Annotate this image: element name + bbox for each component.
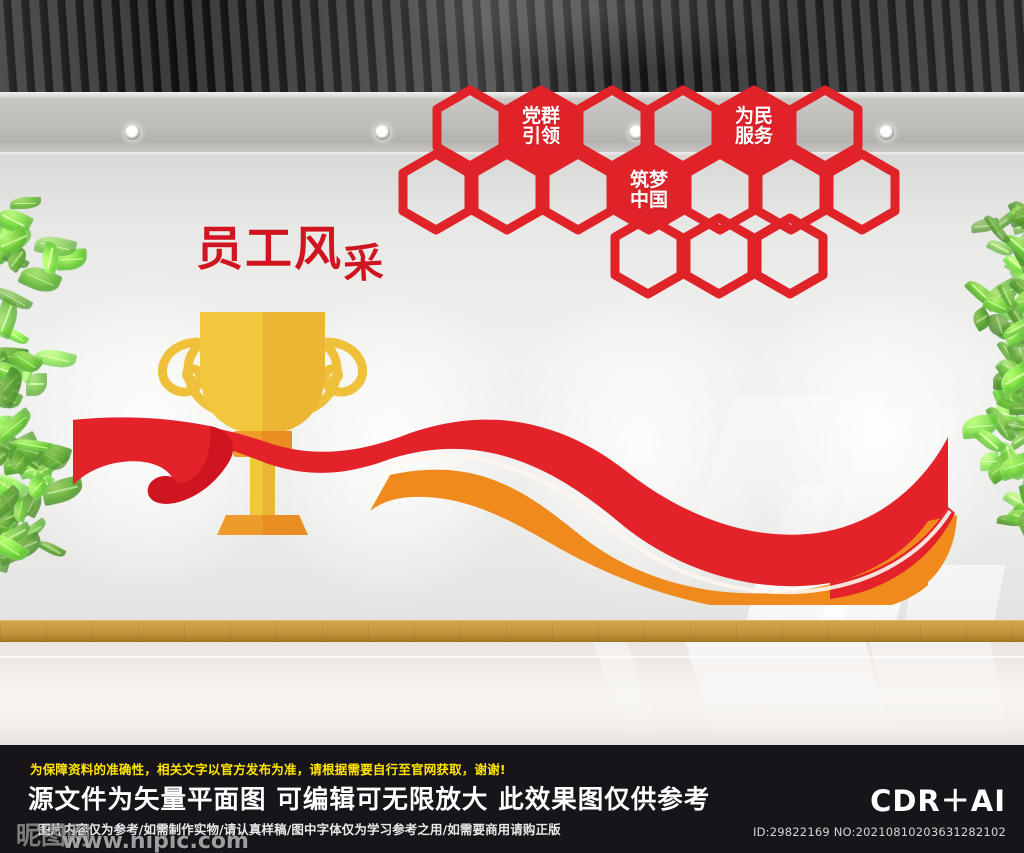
marble-floor (0, 642, 1024, 745)
hexagon-cell-empty[interactable] (403, 154, 469, 230)
hexagon-cell-filled[interactable] (721, 90, 787, 166)
footer-bar: 为保障资料的准确性，相关文字以官方发布为准，请根据需要自行至官网获取，谢谢! 源… (0, 745, 1024, 853)
hexagon-cell-empty[interactable] (829, 154, 895, 230)
floor-reflection (593, 642, 661, 742)
hexagon-cell-empty[interactable] (437, 90, 503, 166)
hexagon-cell-empty[interactable] (792, 90, 858, 166)
footer-id-text: ID:29822169 NO:20210810203631282102 (753, 825, 1006, 839)
footer-terms-text: 图片内容仅为参考/如需制作实物/请认真样稿/图中字体仅为学习参考之用/如需要商用… (38, 819, 561, 838)
hexagon-cell-empty[interactable] (579, 90, 645, 166)
hexagon-cell-empty[interactable] (545, 154, 611, 230)
hexagon-cell-filled[interactable] (508, 90, 574, 166)
floor-reflection (870, 642, 1009, 742)
footer-headline: 源文件为矢量平面图 可编辑可无限放大 此效果图仅供参考 (28, 779, 710, 816)
floor-reflection (686, 642, 895, 742)
wood-baseboard (0, 620, 1024, 642)
footer-format-label: CDR＋AI (870, 778, 1006, 820)
hexagon-cell-empty[interactable] (474, 154, 540, 230)
hexagon-cell-empty[interactable] (650, 90, 716, 166)
hexagon-honeycomb-grid (0, 0, 1024, 465)
poster-preview-stage: 员工风采 (0, 0, 1024, 853)
footer-warning-text: 为保障资料的准确性，相关文字以官方发布为准，请根据需要自行至官网获取，谢谢! (30, 759, 506, 778)
